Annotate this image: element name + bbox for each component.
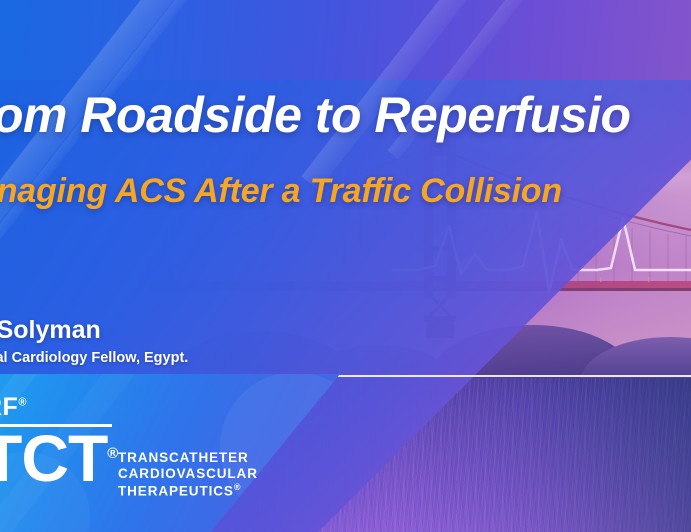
- presentation-title-slide: rom Roadside to Reperfusio anaging ACS A…: [0, 0, 691, 532]
- tct-logo-mark: TCT®: [0, 425, 117, 491]
- registered-trademark-icon: ®: [18, 397, 27, 409]
- slide-title: rom Roadside to Reperfusio: [0, 86, 691, 144]
- tct-logo-wordmark: TRANSCATHETER CARDIOVASCULAR THERAPEUTIC…: [118, 450, 258, 499]
- tct-wordmark-line-2: CARDIOVASCULAR: [118, 466, 258, 482]
- tct-wordmark-line-1: TRANSCATHETER: [118, 450, 258, 466]
- tct-wordmark-line-3-text: THERAPEUTICS: [118, 483, 234, 498]
- crf-logo-text: RF: [0, 393, 18, 421]
- registered-trademark-icon: ®: [107, 445, 117, 462]
- top-gradient-band: [0, 0, 691, 80]
- tct-logo-text: TCT: [0, 421, 107, 495]
- crf-logo-mark: RF®: [0, 393, 27, 422]
- author-role: entional Cardiology Fellow, Egypt.: [0, 350, 188, 366]
- author-name: ar Solyman: [0, 316, 101, 345]
- slide-subtitle: anaging ACS After a Traffic Collision: [0, 172, 691, 211]
- tct-wordmark-line-3: THERAPEUTICS®: [118, 482, 258, 499]
- registered-trademark-icon: ®: [234, 482, 242, 492]
